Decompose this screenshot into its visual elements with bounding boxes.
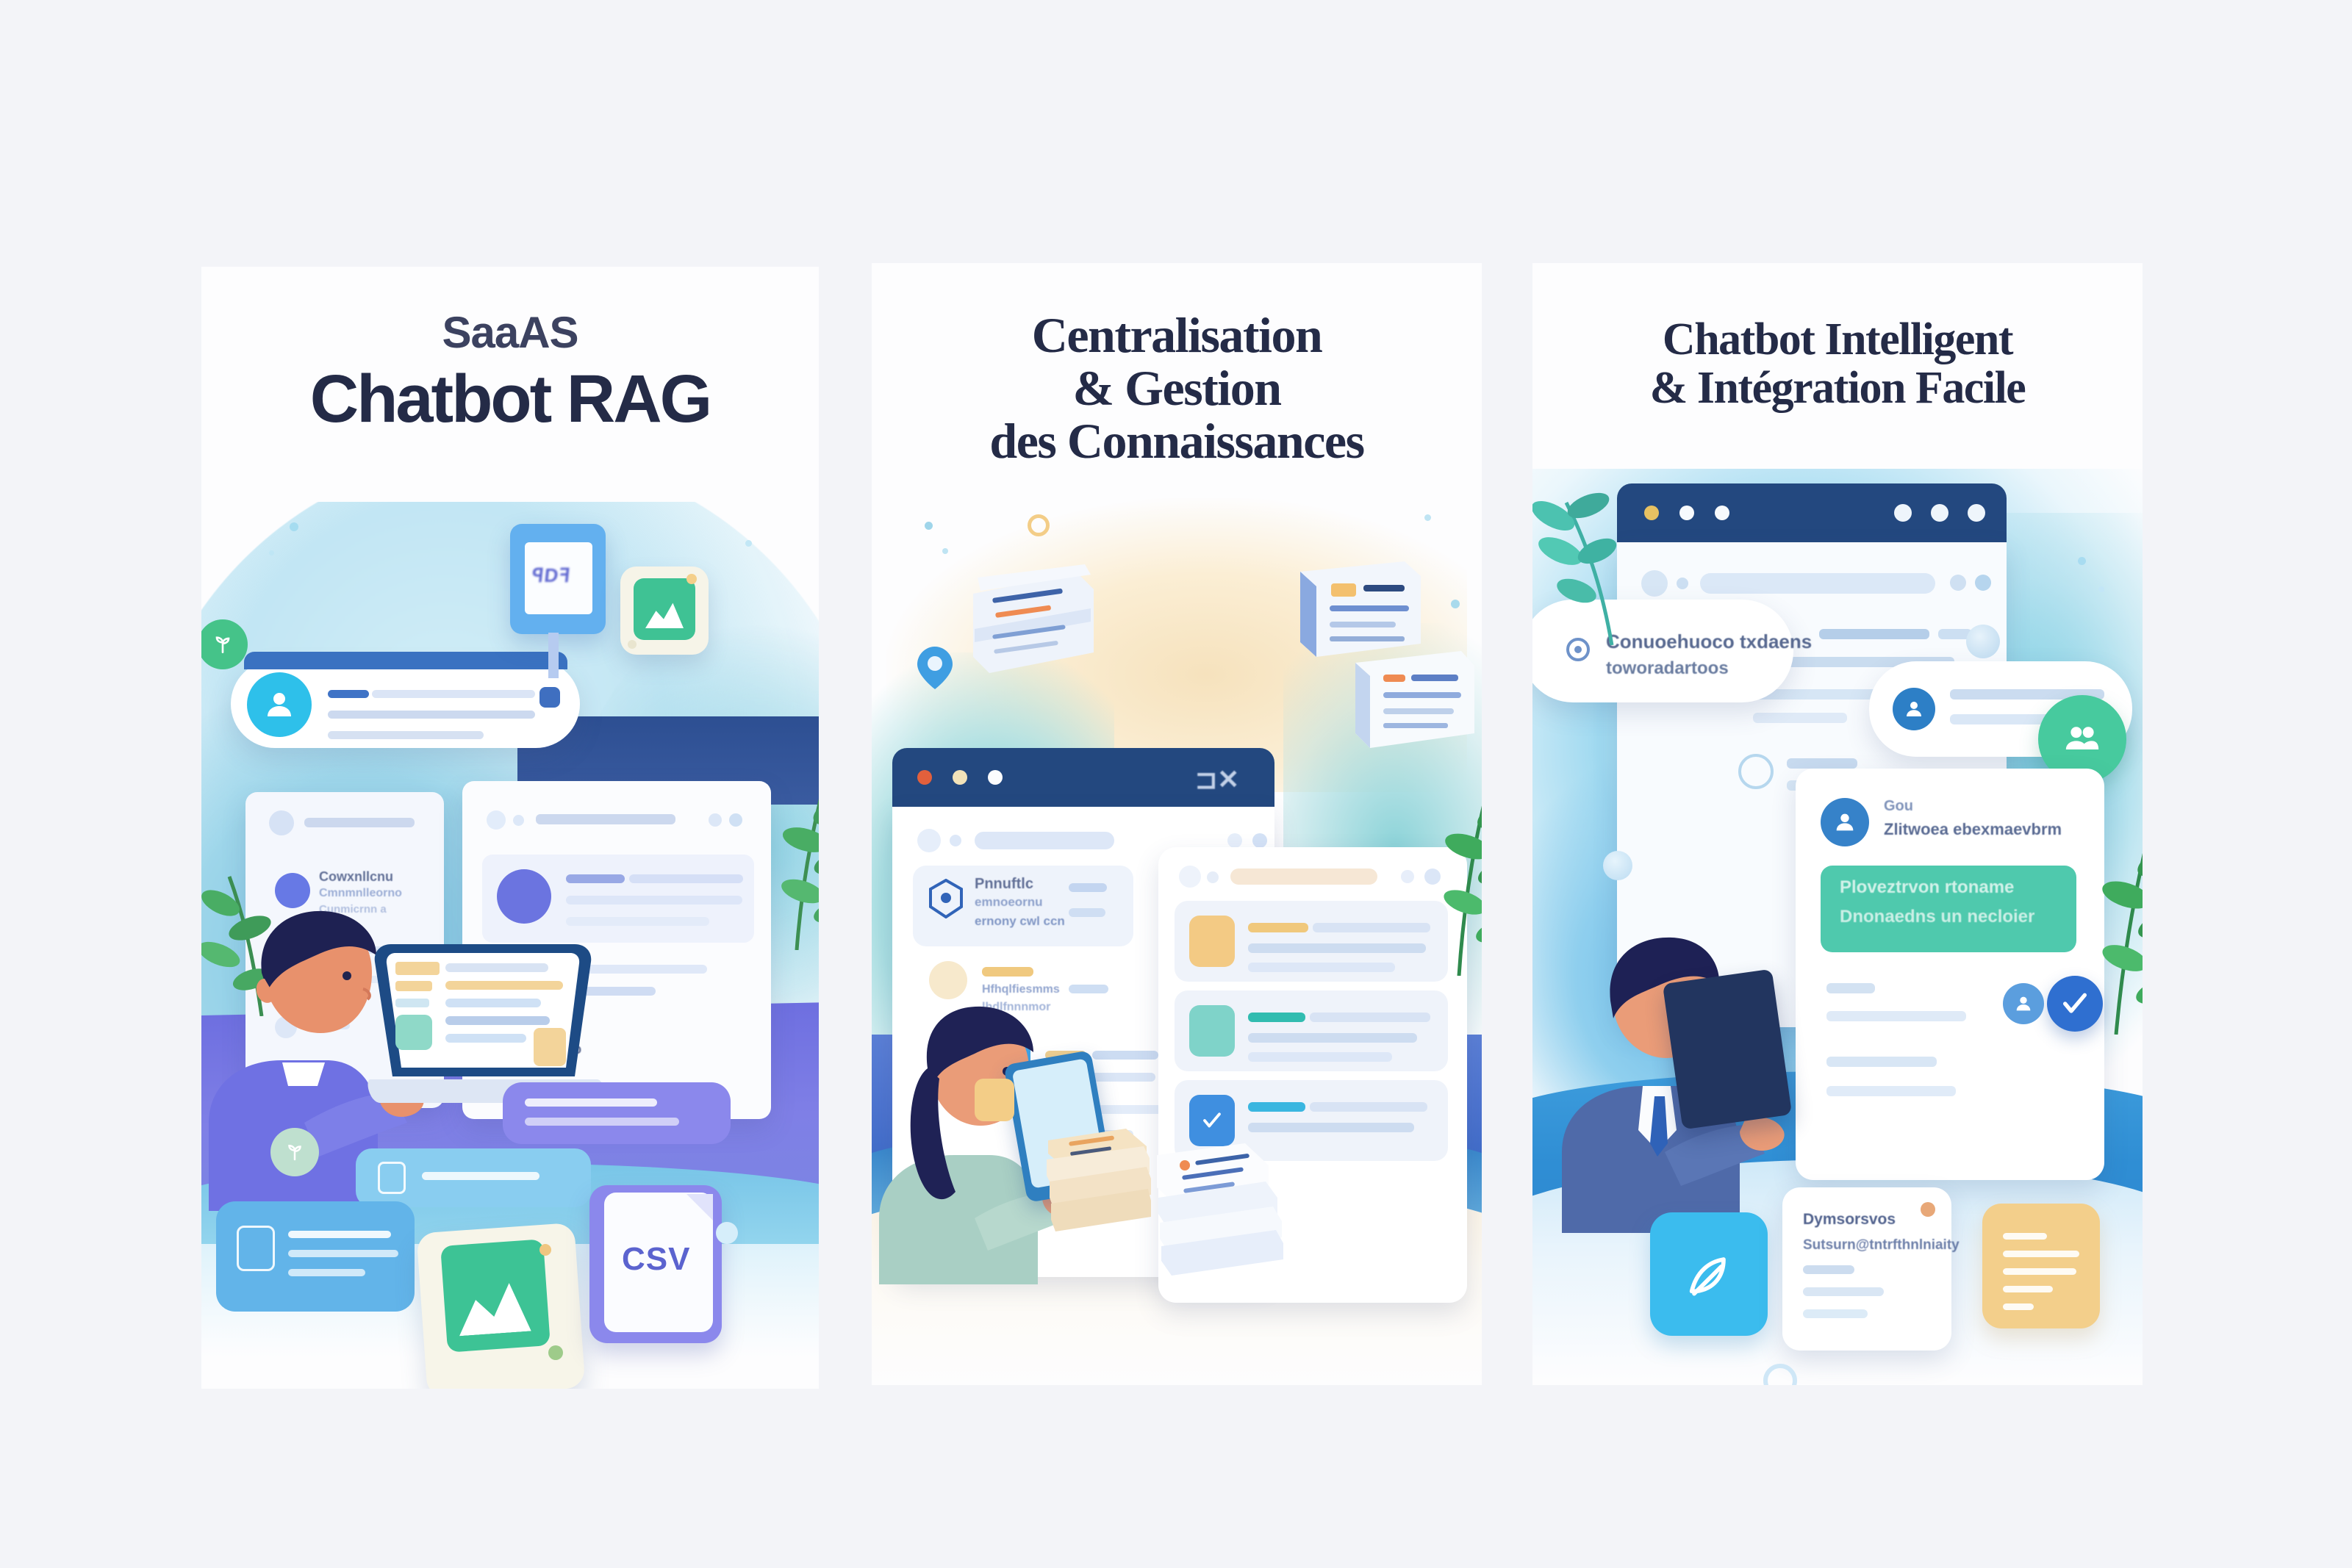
panel-2-title-line-2: & Gestion xyxy=(894,362,1460,414)
chat-followup-line-1 xyxy=(1826,983,1875,993)
image-file-card-inner xyxy=(440,1239,551,1352)
droplet-badge-1 xyxy=(1966,625,2000,658)
secondary-list-item-2-line-1b xyxy=(1310,1013,1430,1022)
window-minimize-dot[interactable] xyxy=(953,770,967,785)
chat-header-badge-icon xyxy=(539,687,560,708)
user-avatar-icon xyxy=(247,672,312,737)
tablet-held[interactable] xyxy=(1663,969,1792,1130)
secondary-list-item-3-line-1 xyxy=(1248,1102,1305,1112)
location-pin-icon xyxy=(916,645,954,691)
chat-followup-line-2 xyxy=(1826,1011,1966,1021)
image-file-card-dot-amber xyxy=(539,1244,551,1256)
chat-window-dot-white-1[interactable] xyxy=(1679,506,1694,520)
panel-3-headings: Chatbot Intelligent & Intégration Facile xyxy=(1532,316,2143,412)
doc-right-avatar-icon xyxy=(497,869,551,924)
desk-chat-pill-line-1 xyxy=(525,1098,657,1107)
bottom-info-card-dot xyxy=(1921,1202,1935,1217)
people-icon xyxy=(2062,719,2103,760)
doc-right-line-c xyxy=(566,896,742,905)
panel-chatbot-rag: SaaAS Chatbot RAG Cowxnllcnu Cmnmnlleorn… xyxy=(201,267,819,1389)
chat-msg-line-1 xyxy=(1819,629,1929,639)
panel-chatbot-intelligent: Chatbot Intelligent & Intégration Facile xyxy=(1532,263,2143,1385)
bottom-info-card-title: Dymsorsvos xyxy=(1803,1211,1896,1229)
sparkle-dot-2 xyxy=(942,548,948,554)
panel-3-illustration: Conuoehuoco txdaens toworadartoos xyxy=(1532,469,2143,1385)
secondary-list-item-2-line-1 xyxy=(1248,1013,1305,1022)
chat-card-blue-upper-line xyxy=(422,1172,539,1180)
panel-2-title-line-3: des Connaissances xyxy=(894,414,1460,467)
sparkle-dot-4 xyxy=(1451,600,1460,608)
kb-result-row-1-meta-1 xyxy=(1069,883,1107,892)
window-close-dot[interactable] xyxy=(917,770,932,785)
secondary-list-item-2-line-2 xyxy=(1248,1033,1417,1043)
chat-card-blue-upper-icon xyxy=(378,1162,406,1194)
browser-toolbar-avatar xyxy=(917,829,941,852)
chat-toolbar-icon-1[interactable] xyxy=(1950,575,1966,591)
secondary-window-search[interactable] xyxy=(1230,868,1377,885)
chat-user-message: Zlitwoea ebexmaevbrm xyxy=(1884,820,2062,839)
doc-right-dot-2 xyxy=(513,815,524,826)
panel-1-title: Chatbot RAG xyxy=(223,364,797,436)
assistant-bubble-right-avatar xyxy=(1893,688,1935,730)
chat-toolbar-searchbar[interactable] xyxy=(1700,573,1935,594)
desk-chat-pill-line-2 xyxy=(525,1118,679,1126)
sparkle-3-1 xyxy=(2078,557,2086,565)
chat-followup-line-3 xyxy=(1826,1057,1937,1067)
chat-header-line-3 xyxy=(328,731,484,739)
chat-followup-line-4 xyxy=(1826,1086,1956,1096)
doc-left-glyph-line2: Cmnmnlleorno xyxy=(319,887,402,900)
bottom-note-card-line-4 xyxy=(2003,1286,2053,1292)
sparkle-2 xyxy=(269,550,274,555)
plant-top-left-3 xyxy=(1532,469,1665,652)
bottom-info-card-line-2 xyxy=(1803,1287,1884,1296)
bottom-note-card-line-1 xyxy=(2003,1233,2047,1240)
paper-stack-right-lower xyxy=(1349,645,1482,763)
browser-search-bar[interactable] xyxy=(975,832,1114,849)
sparkle-3 xyxy=(745,540,752,547)
chat-header-line-1b xyxy=(372,690,535,698)
panel-1-eyebrow: SaaAS xyxy=(223,307,797,358)
droplet-badge-2 xyxy=(1603,851,1632,880)
chat-card-blue-lower-icon xyxy=(237,1226,275,1271)
csv-file-label: CSV xyxy=(622,1241,690,1278)
chat-user-avatar xyxy=(1821,798,1869,846)
chat-window-dot-white-2[interactable] xyxy=(1715,506,1729,520)
doc-right-dot-3 xyxy=(709,813,722,827)
kb-result-row-1-sub-1: emnoeornu xyxy=(975,895,1043,910)
chat-window-control-3[interactable] xyxy=(1968,504,1985,522)
plant-right xyxy=(753,759,819,950)
panel-2-title-line-1: Centralisation xyxy=(894,309,1460,362)
image-file-card-dot-green xyxy=(548,1345,563,1360)
plant-right-3 xyxy=(2076,785,2143,1035)
doc-right-headline xyxy=(536,814,675,824)
chat-window-control-1[interactable] xyxy=(1894,504,1912,522)
secondary-list-item-1-icon xyxy=(1189,916,1235,967)
poster-canvas: SaaAS Chatbot RAG Cowxnllcnu Cmnmnlleorn… xyxy=(0,0,2352,1568)
secondary-list-item-1-line-1b xyxy=(1313,923,1430,932)
chat-card-blue-lower-line-3 xyxy=(288,1269,365,1276)
chat-reply-line-1 xyxy=(1787,758,1857,769)
floor-paper-stack-cream xyxy=(1039,1114,1157,1239)
bottom-icon-card-cyan xyxy=(1650,1212,1768,1336)
chat-toolbar-icon-2[interactable] xyxy=(1975,575,1991,591)
chat-header-line-1a xyxy=(328,690,369,698)
green-doc-card-dot-b xyxy=(628,640,637,649)
doc-right-line-a xyxy=(566,874,625,883)
chat-bot-reply-line-1: Ploveztrvon rtoname xyxy=(1840,877,2014,898)
secondary-list-item-2-line-3 xyxy=(1248,1052,1392,1062)
doc-right-dot-1 xyxy=(487,810,506,830)
phone-icon-amber xyxy=(975,1079,1014,1121)
doc-right-dot-4 xyxy=(729,813,742,827)
kb-result-row-1-sub-2: ernony cwl ccn xyxy=(975,914,1065,929)
chat-reply-icon xyxy=(1738,754,1774,789)
document-leaf-icon xyxy=(1679,1245,1738,1303)
sparkle-3-2 xyxy=(2098,586,2104,592)
chat-msg-line-5 xyxy=(1753,713,1847,723)
secondary-window-icon-1[interactable] xyxy=(1401,870,1414,883)
pdf-card-stem xyxy=(548,633,559,678)
kb-result-row-1-icon xyxy=(929,879,963,918)
chat-toolbar-dot xyxy=(1677,578,1688,589)
panel-3-title-line-2: & Intégration Facile xyxy=(1555,364,2120,413)
chat-user-name: Gou xyxy=(1884,798,1913,815)
browser-toolbar-dot xyxy=(950,835,961,846)
sparkle-dot-1 xyxy=(925,522,933,530)
doc-right-line-b xyxy=(629,874,743,883)
chat-window-control-2[interactable] xyxy=(1931,504,1948,522)
doc-left-avatar xyxy=(269,810,294,835)
bottom-note-card-line-5 xyxy=(2003,1303,2034,1310)
sparkle-4 xyxy=(716,1222,738,1244)
kb-result-row-1-meta-2 xyxy=(1069,908,1105,917)
doc-left-glyph-line1: Cowxnllcnu xyxy=(319,869,393,885)
bottom-note-card-line-3 xyxy=(2003,1268,2076,1275)
contact-avatar-badge xyxy=(2003,983,2044,1024)
secondary-list-item-1-line-1 xyxy=(1248,923,1308,932)
window-controls-glyph[interactable]: ⊐✕ xyxy=(1195,764,1239,795)
chat-card-blue-lower-line-2 xyxy=(288,1250,398,1257)
desk-chat-pill xyxy=(503,1082,731,1144)
browser-toolbar-icon-2[interactable] xyxy=(1252,833,1267,848)
panel-3-title-line-1: Chatbot Intelligent xyxy=(1555,316,2120,364)
assistant-bubble-left-line-2: toworadartoos xyxy=(1606,658,1729,679)
green-doc-card-inner xyxy=(634,578,695,640)
chat-card-blue-lower-line-1 xyxy=(288,1231,391,1238)
panel-2-illustration: ⊐✕ Pnnuftlc emnoeornu ernony cwl ccn Hfh… xyxy=(872,476,1482,1385)
pdf-file-label: ꟼDꟻ xyxy=(531,564,572,587)
bottom-note-card-amber xyxy=(1982,1204,2100,1328)
secondary-window-dot xyxy=(1207,871,1219,883)
panel-1-illustration: Cowxnllcnu Cmnmnlleorno Cunmicrnn a Covc… xyxy=(201,502,819,1389)
sparkle-dot-3 xyxy=(1424,514,1431,521)
window-maximize-dot[interactable] xyxy=(988,770,1003,785)
chat-bot-reply-line-2: Dnonaedns un necloier xyxy=(1840,907,2034,927)
secondary-list-item-1-line-2 xyxy=(1248,943,1426,953)
plant-right-2 xyxy=(1419,755,1482,976)
sparkle-1 xyxy=(290,522,298,531)
secondary-list-item-3-line-1b xyxy=(1310,1102,1427,1112)
panel-1-headings: SaaAS Chatbot RAG xyxy=(201,307,819,436)
chat-header-card-topbar xyxy=(244,652,567,669)
desk-sprout-badge-icon xyxy=(270,1128,319,1176)
panel-2-headings: Centralisation & Gestion des Connaissanc… xyxy=(872,309,1482,467)
floor-paper-stack-white xyxy=(1151,1130,1291,1277)
bottom-info-card-line-1 xyxy=(1803,1265,1854,1274)
paper-stack-left xyxy=(967,564,1100,682)
doc-left-headline xyxy=(304,818,415,827)
green-doc-card-dot-a xyxy=(686,574,697,584)
sparkle-amber-ring xyxy=(1028,514,1050,536)
kb-result-row-3-line-2 xyxy=(1092,1051,1158,1060)
secondary-list-item-2-icon xyxy=(1189,1005,1235,1057)
browser-toolbar-icon-1[interactable] xyxy=(1227,833,1242,848)
secondary-window-avatar xyxy=(1179,866,1201,888)
secondary-list-item-1-line-3 xyxy=(1248,963,1395,972)
panel-centralisation: Centralisation & Gestion des Connaissanc… xyxy=(872,263,1482,1385)
bottom-info-card-subtitle: Sutsurn@tntrfthnlniaity xyxy=(1803,1237,1960,1254)
kb-result-row-1-title: Pnnuftlc xyxy=(975,876,1033,893)
chat-header-line-2 xyxy=(328,711,535,719)
bottom-note-card-line-2 xyxy=(2003,1251,2079,1257)
bottom-info-card-line-3 xyxy=(1803,1309,1868,1318)
doc-right-line-d xyxy=(566,917,709,926)
